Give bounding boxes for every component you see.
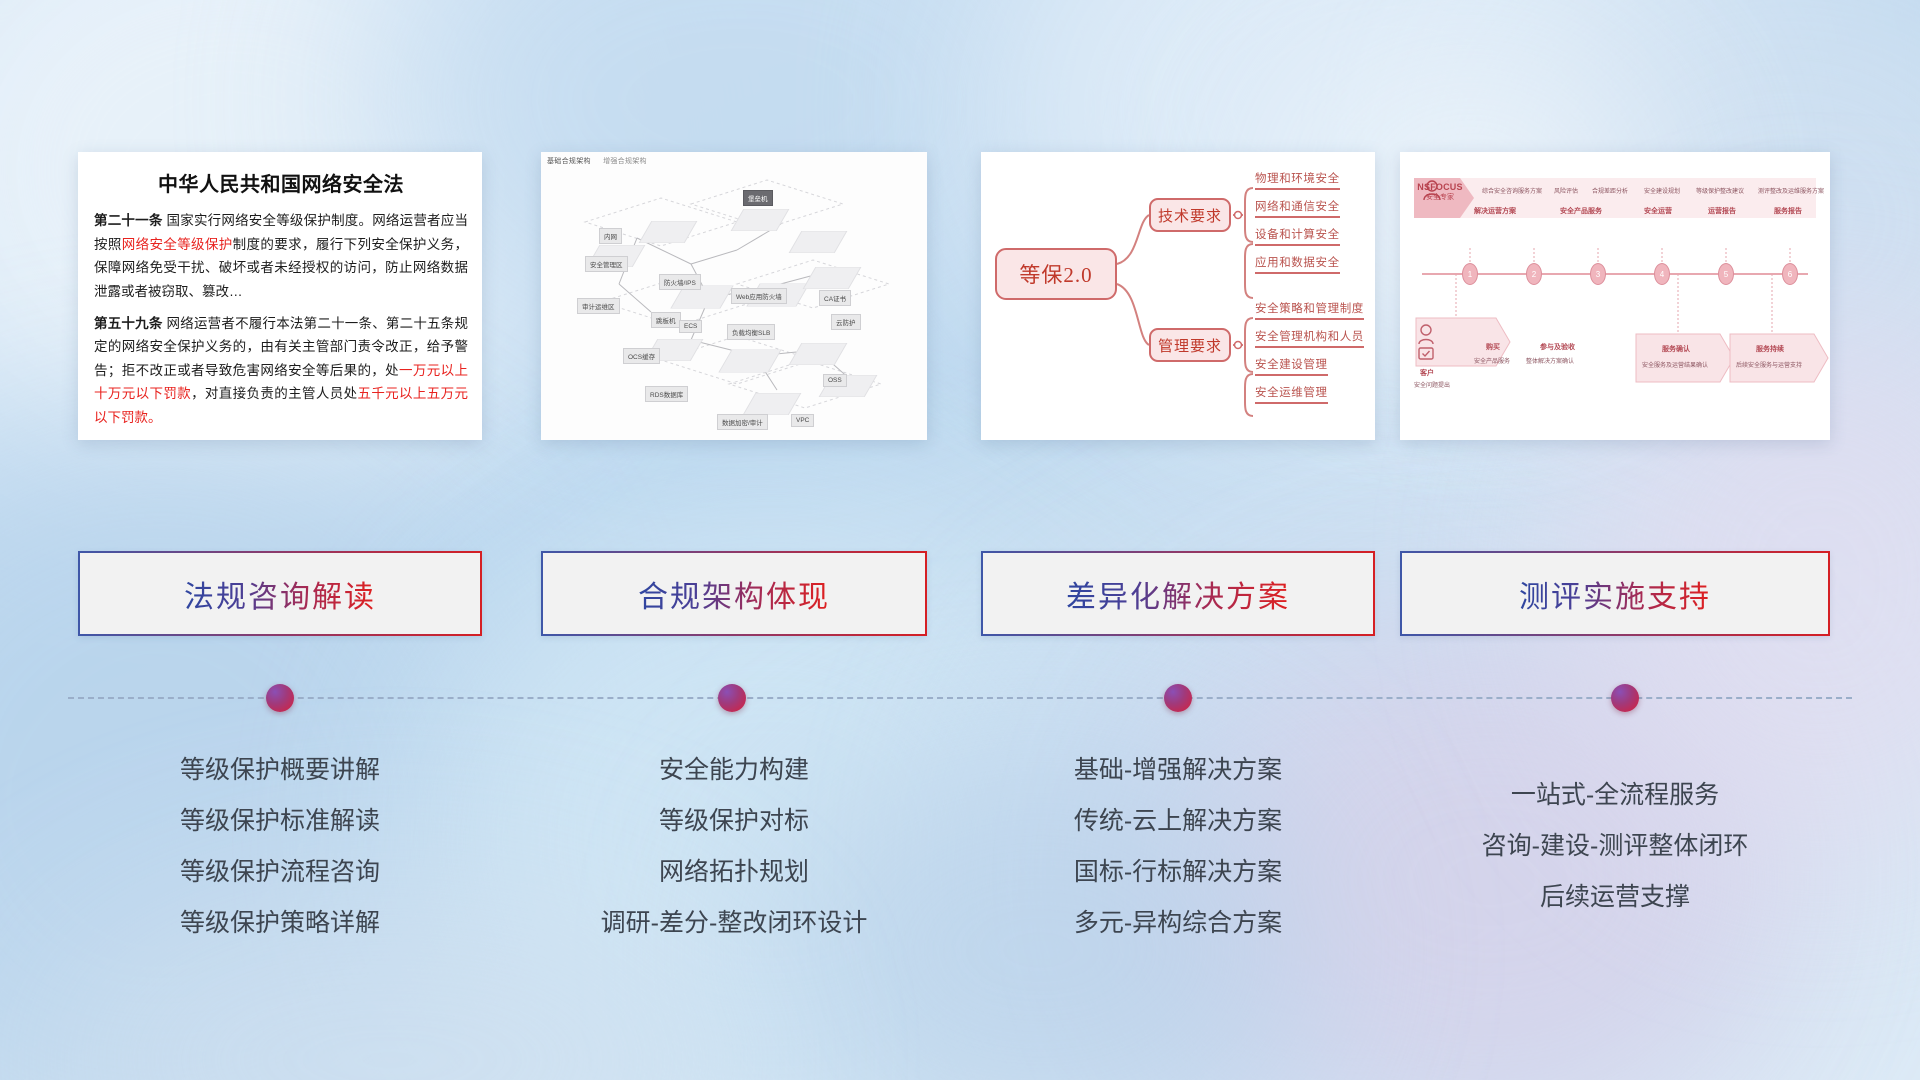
banner-evaluation-support[interactable]: 测评实施支持 bbox=[1400, 551, 1830, 636]
law-body: 第二十一条 国家实行网络安全等级保护制度。网络运营者应当按照网络安全等级保护制度… bbox=[94, 209, 468, 430]
column-list-1: 等级保护概要讲解 等级保护标准解读 等级保护流程咨询 等级保护策略详解 bbox=[78, 745, 482, 949]
law-paragraph: 第五十九条 网络运营者不履行本法第二十一条、第二十五条规定的网络安全保护义务的，… bbox=[94, 312, 468, 430]
nsfocus-step: 2 bbox=[1526, 263, 1542, 285]
list-item: 调研-差分-整改闭环设计 bbox=[541, 898, 927, 949]
nsfocus-header-label: 综合安全咨询服务方案 bbox=[1482, 186, 1542, 195]
list-item: 传统-云上解决方案 bbox=[981, 796, 1375, 847]
timeline bbox=[0, 697, 1920, 701]
banner-label: 差异化解决方案 bbox=[1066, 572, 1290, 616]
mindmap-leaf: 安全管理机构和人员 bbox=[1255, 328, 1364, 348]
mindmap-leaf: 设备和计算安全 bbox=[1255, 226, 1340, 246]
nsfocus-header-label: 风险评估 bbox=[1554, 186, 1578, 195]
nsfocus-phase-label: 运营报告 bbox=[1708, 206, 1736, 216]
law-text: ，对直接负责的主管人员处 bbox=[191, 386, 357, 401]
nsfocus-step: 5 bbox=[1718, 263, 1734, 285]
column-lists: 等级保护概要讲解 等级保护标准解读 等级保护流程咨询 等级保护策略详解 安全能力… bbox=[0, 745, 1920, 1045]
list-item: 咨询-建设-测评整体闭环 bbox=[1400, 821, 1830, 872]
banner-row: 法规咨询解读 合规架构体现 差异化解决方案 测评实施支持 bbox=[0, 551, 1920, 636]
list-item: 等级保护对标 bbox=[541, 796, 927, 847]
diagram-node: RDS数据库 bbox=[645, 386, 688, 402]
card-mindmap: 等保2.0 技术要求 管理要求 物理和环境安全 网络和通信安全 设备和计算安全 … bbox=[981, 152, 1375, 440]
nsfocus-footer-item-sub: 后续安全服务与运营支持 bbox=[1736, 360, 1802, 369]
nsfocus-footer-left-sub: 安全问题提出 bbox=[1414, 380, 1450, 389]
nsfocus-footer-item-sub: 安全产品服务 bbox=[1474, 356, 1510, 365]
timeline-dashed-line bbox=[68, 697, 1852, 699]
nsfocus-footer-item-title: 参与及验收 bbox=[1540, 342, 1575, 352]
nsfocus-phase-label: 服务报告 bbox=[1774, 206, 1802, 216]
banner-label: 法规咨询解读 bbox=[184, 572, 376, 616]
list-item: 等级保护概要讲解 bbox=[78, 745, 482, 796]
law-article-label: 第二十一条 bbox=[94, 213, 163, 228]
diagram-node: 堡垒机 bbox=[743, 190, 773, 206]
diagram-node: ECS bbox=[679, 320, 702, 333]
list-item: 后续运营支撑 bbox=[1400, 872, 1830, 923]
nsfocus-footer-item-sub: 整体解决方案确认 bbox=[1526, 356, 1574, 365]
timeline-dot-2[interactable] bbox=[718, 684, 746, 712]
law-text-highlight: 网络安全等级保护 bbox=[122, 237, 233, 252]
nsfocus-footer-left-title: 客户 bbox=[1420, 368, 1434, 378]
diagram-node: 内网 bbox=[599, 228, 622, 244]
mindmap-leaf: 网络和通信安全 bbox=[1255, 198, 1340, 218]
mindmap-leaf: 安全建设管理 bbox=[1255, 356, 1328, 376]
law-paragraph: 第二十一条 国家实行网络安全等级保护制度。网络运营者应当按照网络安全等级保护制度… bbox=[94, 209, 468, 304]
diagram-node: Web应用防火墙 bbox=[731, 288, 787, 304]
law-title: 中华人民共和国网络安全法 bbox=[94, 168, 468, 197]
diagram-node: 云防护 bbox=[831, 314, 861, 330]
mindmap-root: 等保2.0 bbox=[995, 248, 1117, 300]
list-item: 一站式-全流程服务 bbox=[1400, 770, 1830, 821]
diagram-node: VPC bbox=[791, 414, 814, 427]
mindmap-leaf: 物理和环境安全 bbox=[1255, 170, 1340, 190]
nsfocus-brand-line2: 安全专家 bbox=[1414, 192, 1466, 202]
diagram-node: OCS缓存 bbox=[623, 348, 660, 364]
list-item: 安全能力构建 bbox=[541, 745, 927, 796]
timeline-dot-4[interactable] bbox=[1611, 684, 1639, 712]
nsfocus-footer-item-title: 服务确认 bbox=[1662, 344, 1690, 354]
timeline-dot-1[interactable] bbox=[266, 684, 294, 712]
list-item: 多元-异构综合方案 bbox=[981, 898, 1375, 949]
mindmap-leaf: 安全运维管理 bbox=[1255, 384, 1328, 404]
diagram-node: CA证书 bbox=[819, 290, 851, 306]
card-law-text: 中华人民共和国网络安全法 第二十一条 国家实行网络安全等级保护制度。网络运营者应… bbox=[78, 152, 482, 440]
list-item: 等级保护流程咨询 bbox=[78, 847, 482, 898]
list-item: 等级保护策略详解 bbox=[78, 898, 482, 949]
nsfocus-step: 4 bbox=[1654, 263, 1670, 285]
nsfocus-logo: NSFOCUS 安全专家 bbox=[1414, 182, 1466, 202]
nsfocus-phase-label: 安全产品服务 bbox=[1560, 206, 1602, 216]
column-list-4: 一站式-全流程服务 咨询-建设-测评整体闭环 后续运营支撑 bbox=[1400, 745, 1830, 923]
diagram-node: 安全管理区 bbox=[585, 256, 628, 272]
timeline-dot-3[interactable] bbox=[1164, 684, 1192, 712]
nsfocus-step: 3 bbox=[1590, 263, 1606, 285]
list-item: 基础-增强解决方案 bbox=[981, 745, 1375, 796]
banner-label: 测评实施支持 bbox=[1519, 572, 1711, 616]
mindmap-canvas: 等保2.0 技术要求 管理要求 物理和环境安全 网络和通信安全 设备和计算安全 … bbox=[981, 152, 1375, 440]
nsfocus-footer-item-title: 购买 bbox=[1486, 342, 1500, 352]
nsfocus-canvas: NSFOCUS 安全专家 综合安全咨询服务方案 风险评估 合规差距分析 安全建设… bbox=[1400, 152, 1830, 440]
nsfocus-header-label: 合规差距分析 bbox=[1592, 186, 1628, 195]
list-item: 等级保护标准解读 bbox=[78, 796, 482, 847]
banner-differentiated-solution[interactable]: 差异化解决方案 bbox=[981, 551, 1375, 636]
law-article-label: 第五十九条 bbox=[94, 316, 163, 331]
nsfocus-header-label: 安全建设规划 bbox=[1644, 186, 1680, 195]
mindmap-branch-management: 管理要求 bbox=[1149, 328, 1231, 362]
nsfocus-phase-label: 解决运营方案 bbox=[1474, 206, 1516, 216]
nsfocus-header-label: 等级保护整改建议 bbox=[1696, 186, 1744, 195]
nsfocus-phase-label: 安全运营 bbox=[1644, 206, 1672, 216]
mindmap-leaf: 应用和数据安全 bbox=[1255, 254, 1340, 274]
banner-compliance-architecture[interactable]: 合规架构体现 bbox=[541, 551, 927, 636]
diagram-node: 负载均衡SLB bbox=[727, 324, 775, 340]
nsfocus-step: 6 bbox=[1782, 263, 1798, 285]
card-nsfocus-timeline: NSFOCUS 安全专家 综合安全咨询服务方案 风险评估 合规差距分析 安全建设… bbox=[1400, 152, 1830, 440]
nsfocus-step: 1 bbox=[1462, 263, 1478, 285]
mindmap-branch-technical: 技术要求 bbox=[1149, 198, 1231, 232]
banner-label: 合规架构体现 bbox=[638, 572, 830, 616]
diagram-node: 数据加密/审计 bbox=[717, 414, 768, 430]
architecture-canvas: 基础合规架构 增强合规架构 bbox=[541, 152, 927, 440]
nsfocus-footer-item-title: 服务持续 bbox=[1756, 344, 1784, 354]
nsfocus-brand-line1: NSFOCUS bbox=[1414, 182, 1466, 192]
diagram-node: 防火墙/IPS bbox=[659, 274, 701, 290]
nsfocus-header-label: 测评整改及运维服务方案 bbox=[1758, 186, 1824, 195]
diagram-node: OSS bbox=[823, 374, 847, 387]
card-architecture-diagram: 基础合规架构 增强合规架构 bbox=[541, 152, 927, 440]
cards-row: 中华人民共和国网络安全法 第二十一条 国家实行网络安全等级保护制度。网络运营者应… bbox=[0, 152, 1920, 442]
nsfocus-footer-item-sub: 安全服务及运营结果确认 bbox=[1642, 360, 1708, 369]
diagram-node: 跳板机 bbox=[651, 312, 681, 328]
banner-regulation-consulting[interactable]: 法规咨询解读 bbox=[78, 551, 482, 636]
list-item: 网络拓扑规划 bbox=[541, 847, 927, 898]
mindmap-leaf: 安全策略和管理制度 bbox=[1255, 300, 1364, 320]
column-list-2: 安全能力构建 等级保护对标 网络拓扑规划 调研-差分-整改闭环设计 bbox=[541, 745, 927, 949]
diagram-node: 审计运维区 bbox=[577, 298, 620, 314]
column-list-3: 基础-增强解决方案 传统-云上解决方案 国标-行标解决方案 多元-异构综合方案 bbox=[981, 745, 1375, 949]
list-item: 国标-行标解决方案 bbox=[981, 847, 1375, 898]
